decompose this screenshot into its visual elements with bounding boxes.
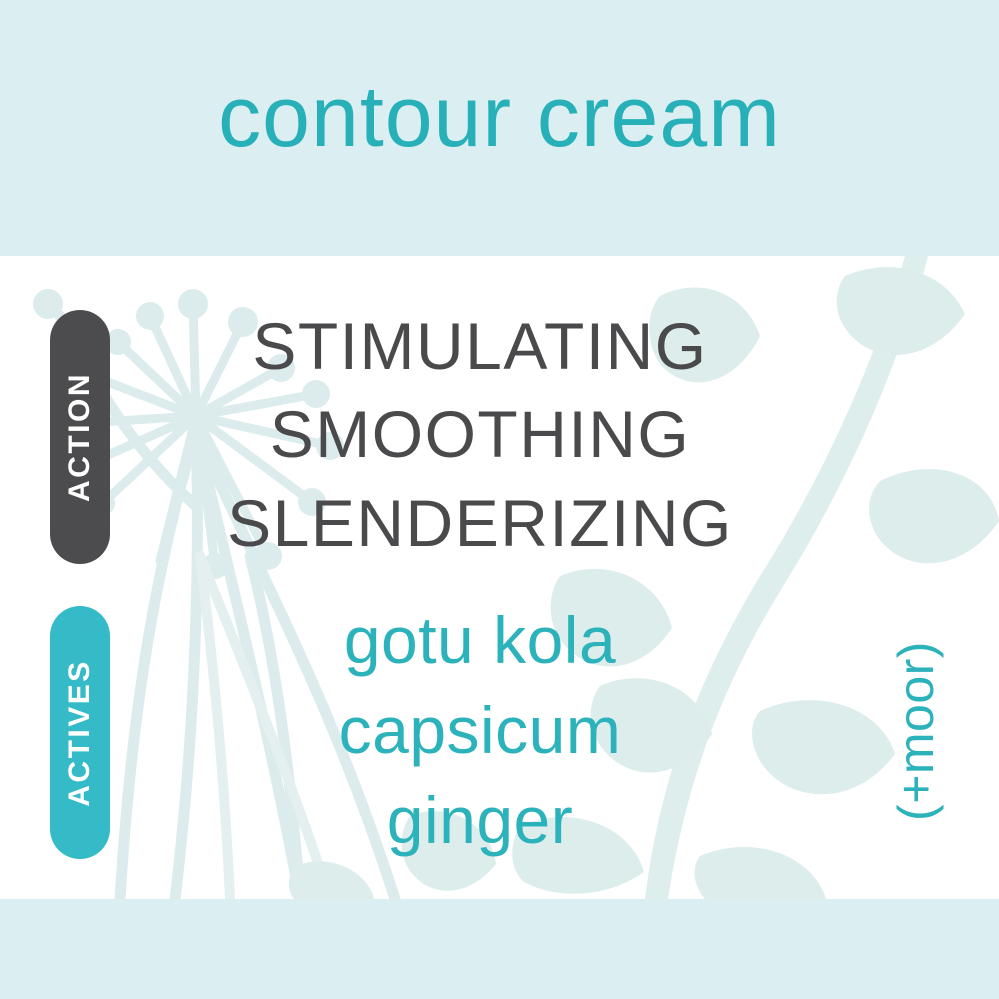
badge-action-label: ACTION	[65, 372, 95, 502]
product-info-card: contour cream	[0, 0, 999, 999]
side-note-label: (+moor)	[891, 641, 941, 821]
badge-actives-label: ACTIVES	[65, 659, 95, 807]
actives-line: gotu kola	[140, 596, 820, 686]
action-line: STIMULATING	[140, 302, 820, 390]
action-benefit-list: STIMULATING SMOOTHING SLENDERIZING	[140, 302, 820, 567]
side-note: (+moor)	[886, 600, 946, 862]
small-bud-dot	[33, 289, 63, 319]
page-title: contour cream	[0, 0, 999, 256]
action-line: SLENDERIZING	[140, 479, 820, 567]
badge-action[interactable]: ACTION	[50, 310, 110, 564]
actives-line: capsicum	[140, 686, 820, 776]
badge-actives[interactable]: ACTIVES	[50, 606, 110, 859]
bottom-color-band	[0, 899, 999, 999]
actives-line: ginger	[140, 776, 820, 866]
action-line: SMOOTHING	[140, 390, 820, 478]
actives-ingredient-list: gotu kola capsicum ginger	[140, 596, 820, 865]
